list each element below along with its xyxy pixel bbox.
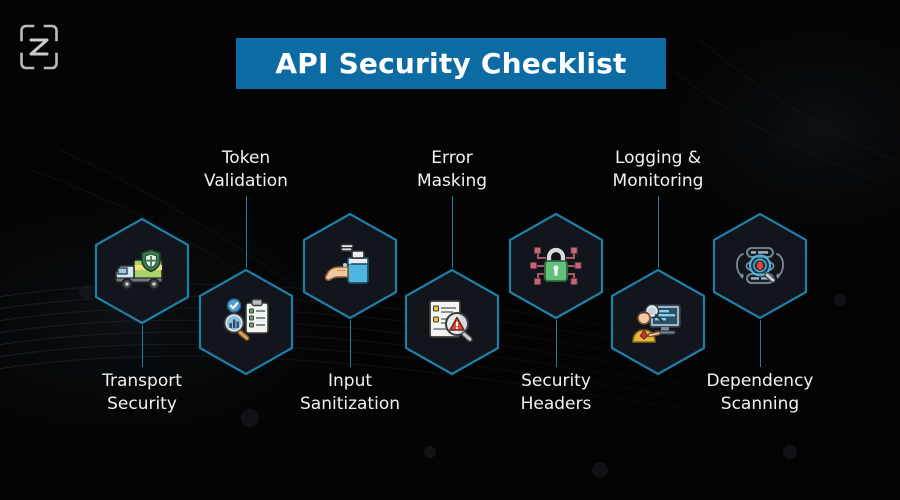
icon-container-transport-security <box>94 217 190 325</box>
icon-container-token-validation <box>198 268 294 376</box>
page-title: API Security Checklist <box>275 47 626 80</box>
brand-logo[interactable] <box>20 24 58 70</box>
hexagon-logging-monitoring[interactable] <box>610 268 706 376</box>
hexagon-dependency-scanning[interactable] <box>712 212 808 320</box>
hexagon-input-sanitization[interactable] <box>302 212 398 320</box>
node-label-input-sanitization: Input Sanitization <box>250 370 450 416</box>
connector-line-security-headers <box>556 320 557 367</box>
hexagon-error-masking[interactable] <box>404 268 500 376</box>
icon-container-security-headers <box>508 212 604 320</box>
document-warning-magnifier-icon <box>426 298 478 346</box>
connector-line-token-validation <box>246 196 247 268</box>
hexagon-transport-security[interactable] <box>94 217 190 325</box>
node-label-token-validation: Token Validation <box>146 147 346 193</box>
padlock-circuit-icon <box>528 242 584 290</box>
sanitizer-hand-icon <box>324 242 376 290</box>
brand-logo-icon <box>20 24 58 70</box>
icon-container-logging-monitoring <box>610 268 706 376</box>
icon-container-error-masking <box>404 268 500 376</box>
icon-container-dependency-scanning <box>712 212 808 320</box>
dependency-graph-magnifier-icon <box>731 242 789 290</box>
connector-line-logging-monitoring <box>658 196 659 268</box>
hexagon-token-validation[interactable] <box>198 268 294 376</box>
connector-line-error-masking <box>452 196 453 268</box>
infographic-canvas: API Security Checklist Transport Securit… <box>0 0 900 500</box>
icon-container-input-sanitization <box>302 212 398 320</box>
node-label-logging-monitoring: Logging & Monitoring <box>558 147 758 193</box>
clipboard-check-magnifier-icon <box>220 298 272 346</box>
hexagon-security-headers[interactable] <box>508 212 604 320</box>
node-label-security-headers: Security Headers <box>456 370 656 416</box>
node-label-transport-security: Transport Security <box>42 370 242 416</box>
connector-line-dependency-scanning <box>760 320 761 367</box>
connector-line-transport-security <box>142 325 143 367</box>
truck-shield-icon <box>114 248 170 294</box>
analyst-monitor-icon <box>630 298 686 346</box>
node-label-error-masking: Error Masking <box>352 147 552 193</box>
connector-line-input-sanitization <box>350 320 351 367</box>
page-title-banner: API Security Checklist <box>236 38 666 89</box>
node-label-dependency-scanning: Dependency Scanning <box>660 370 860 416</box>
